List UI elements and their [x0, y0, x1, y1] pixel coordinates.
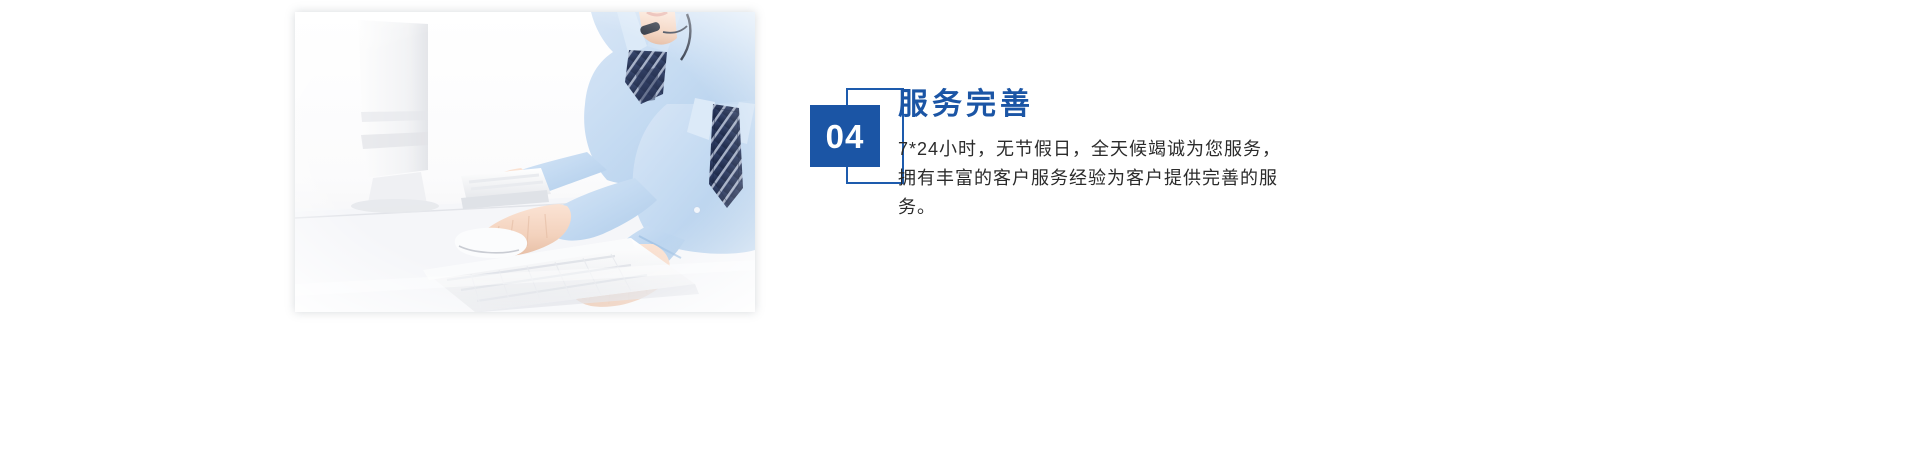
feature-section: 04 服务完善 7*24小时，无节假日，全天候竭诚为您服务，拥有丰富的客户服务经…	[0, 0, 1920, 452]
feature-photo	[295, 12, 755, 312]
badge-number: 04	[826, 120, 865, 153]
feature-description: 7*24小时，无节假日，全天候竭诚为您服务，拥有丰富的客户服务经验为客户提供完善…	[898, 135, 1288, 222]
badge-filled-square: 04	[810, 105, 880, 167]
feature-textblock: 服务完善 7*24小时，无节假日，全天候竭诚为您服务，拥有丰富的客户服务经验为客…	[898, 88, 1458, 222]
feature-content: 04 服务完善 7*24小时，无节假日，全天候竭诚为您服务，拥有丰富的客户服务经…	[810, 88, 1510, 268]
feature-title: 服务完善	[898, 88, 1458, 121]
feature-number-badge: 04	[810, 88, 908, 188]
customer-service-photo-illustration	[295, 12, 755, 312]
